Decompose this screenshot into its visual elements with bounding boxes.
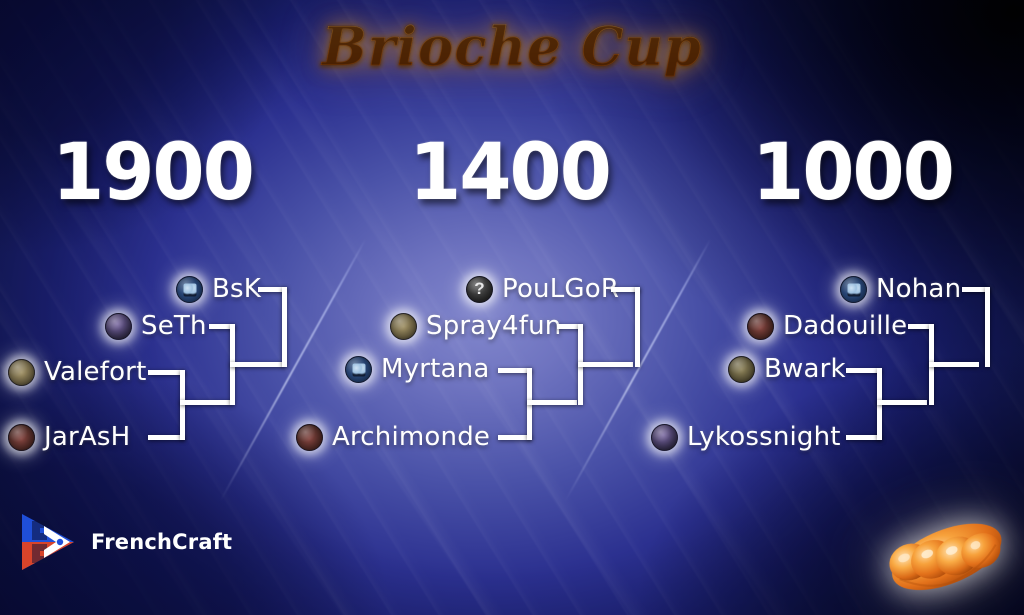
column-heading-1400: 1400 (409, 128, 610, 218)
bracket-slot-poulgor[interactable]: PouLGoR (466, 272, 619, 306)
bracket-slot-nohan[interactable]: Nohan (840, 272, 961, 306)
frenchcraft-play-logo-icon (16, 512, 78, 572)
bracket-slot-dadouille[interactable]: Dadouille (747, 309, 907, 343)
player-name: Dadouille (783, 311, 907, 341)
bracket-slot-valefort[interactable]: Valefort (8, 355, 146, 389)
bracket-slot-seth[interactable]: SeTh (105, 309, 207, 343)
player-name: JarAsH (44, 422, 130, 452)
bracket-line (527, 400, 577, 405)
player-name: Archimonde (332, 422, 490, 452)
avatar-gold-icon (8, 359, 35, 386)
player-name: Bwark (764, 354, 846, 384)
bracket-line (635, 287, 640, 367)
avatar-blue-mc-icon (840, 276, 867, 303)
player-name: Lykossnight (687, 422, 841, 452)
bracket-line (180, 370, 185, 440)
bracket-slot-bwark[interactable]: Bwark (728, 352, 846, 386)
avatar-blue-mc-icon (176, 276, 203, 303)
bracket-line (877, 400, 927, 405)
bracket-line (180, 400, 232, 405)
tournament-bracket-poster: Brioche Cup Brioche Cup 1900 1400 1000 B… (0, 0, 1024, 615)
bracket-slot-archimonde[interactable]: Archimonde (296, 420, 490, 454)
avatar-gold-icon (390, 313, 417, 340)
avatar-red-icon (296, 424, 323, 451)
bracket-slot-myrtana[interactable]: Myrtana (345, 352, 489, 386)
bracket-slot-spray4fun[interactable]: Spray4fun (390, 309, 561, 343)
avatar-purple-orb-icon (105, 313, 132, 340)
player-name: Spray4fun (426, 311, 561, 341)
avatar-red-icon (747, 313, 774, 340)
avatar-question-icon (466, 276, 493, 303)
player-name: Myrtana (381, 354, 489, 384)
player-name: SeTh (141, 311, 207, 341)
avatar-purple-orb-icon (651, 424, 678, 451)
player-name: PouLGoR (502, 274, 619, 304)
brand-name: FrenchCraft (91, 530, 232, 554)
avatar-red-icon (8, 424, 35, 451)
bracket-slot-lykossnight[interactable]: Lykossnight (651, 420, 841, 454)
page-title: Brioche Cup (0, 16, 1024, 78)
column-heading-1900: 1900 (52, 128, 253, 218)
bracket-line (929, 362, 979, 367)
column-heading-1000: 1000 (752, 128, 953, 218)
player-name: BsK (212, 274, 261, 304)
bracket-line (985, 287, 990, 367)
avatar-blue-mc-icon (345, 356, 372, 383)
player-name: Valefort (44, 357, 146, 387)
avatar-olive-icon (728, 356, 755, 383)
bracket-line (578, 362, 633, 367)
bracket-slot-bsk[interactable]: BsK (176, 272, 261, 306)
brand-logo[interactable]: FrenchCraft (16, 512, 232, 572)
bracket-line (230, 362, 285, 367)
bracket-slot-jarash[interactable]: JarAsH (8, 420, 130, 454)
bracket-line (282, 287, 287, 367)
player-name: Nohan (876, 274, 961, 304)
